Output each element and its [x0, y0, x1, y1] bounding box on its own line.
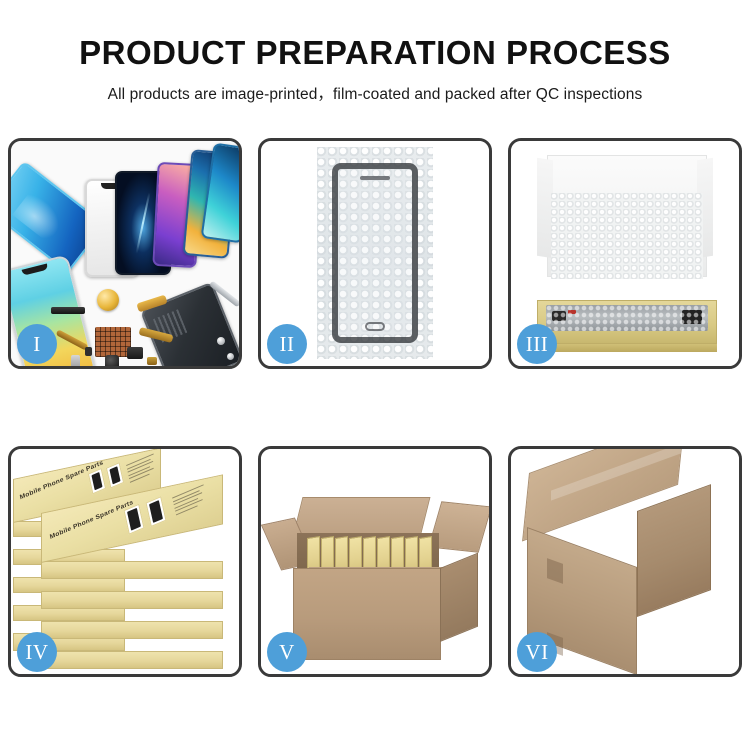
coil-part-icon: [97, 289, 119, 311]
process-step-panel-2: II: [258, 138, 492, 369]
process-step-grid: I II: [8, 138, 742, 678]
stacked-box-layer: [41, 591, 223, 609]
carton-front-face-icon: [293, 568, 441, 660]
process-step-panel-1: I: [8, 138, 242, 369]
carton-side-face-icon: [637, 484, 711, 617]
stacked-box-layer: [41, 651, 223, 669]
small-component-icon: [85, 347, 92, 356]
wrapped-screen-icon: [546, 305, 708, 331]
stacked-box-layer: [41, 621, 223, 639]
step-badge-1: I: [17, 324, 57, 364]
stacked-box-layer: [41, 561, 223, 579]
infographic-page: PRODUCT PREPARATION PROCESS All products…: [0, 0, 750, 750]
small-component-icon: [147, 357, 157, 365]
phone-screen-outline-icon: [332, 163, 418, 343]
step-badge-4: IV: [17, 632, 57, 672]
earpiece-slot-icon: [360, 176, 390, 180]
header: PRODUCT PREPARATION PROCESS All products…: [0, 34, 750, 104]
speaker-bar-part-icon: [51, 307, 85, 314]
bubble-wrap-sheet-icon: [317, 147, 433, 359]
step-badge-5: V: [267, 632, 307, 672]
screen-red-marker-icon: [568, 310, 576, 314]
screen-connector-icon: [682, 310, 702, 324]
copper-grid-part-icon: [95, 327, 131, 357]
process-step-panel-4: Mobile Phone Spare Parts: [8, 446, 242, 677]
screw-part-icon: [227, 353, 234, 360]
step-badge-6: VI: [517, 632, 557, 672]
foam-lining-icon: [551, 193, 703, 279]
home-button-icon: [365, 322, 385, 331]
small-component-icon: [71, 355, 80, 366]
screw-part-icon: [217, 337, 225, 345]
page-subtitle: All products are image-printed，film-coat…: [0, 82, 750, 104]
process-step-panel-5: V: [258, 446, 492, 677]
process-step-panel-3: III: [508, 138, 742, 369]
kraft-mailer-box-icon: [537, 300, 717, 344]
process-step-panel-6: VI: [508, 446, 742, 677]
carton-side-face-icon: [440, 553, 478, 642]
camera-module-part-icon: [105, 355, 119, 366]
screen-chip-icon: [552, 311, 566, 321]
step-badge-3: III: [517, 324, 557, 364]
step-badge-2: II: [267, 324, 307, 364]
chip-part-icon: [127, 347, 143, 359]
page-title: PRODUCT PREPARATION PROCESS: [0, 34, 750, 73]
